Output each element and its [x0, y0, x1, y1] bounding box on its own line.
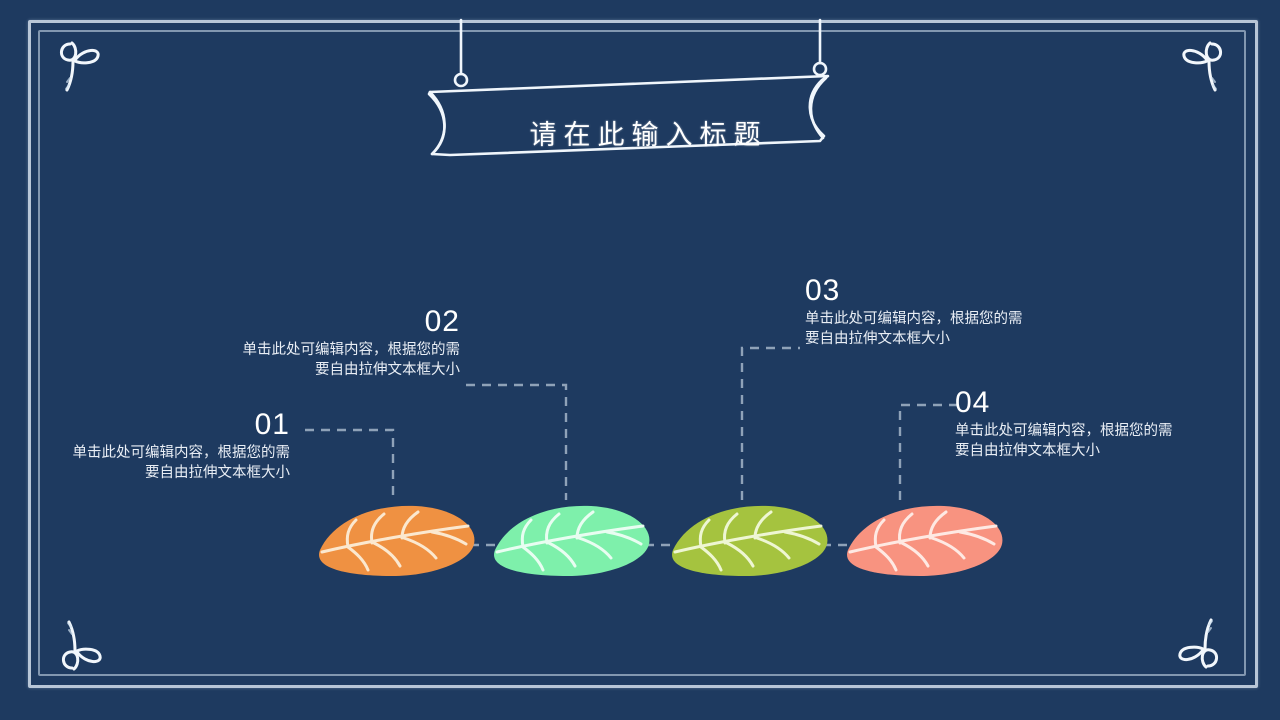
item-number-02: 02: [230, 305, 460, 339]
sprout-icon-top-left: [48, 30, 118, 98]
connector-03: [742, 348, 800, 500]
sprout-icon-bottom-left: [50, 614, 120, 682]
connector-02: [466, 385, 566, 500]
page-title: 请在此输入标题: [420, 113, 870, 152]
hanger-ring-left: [455, 74, 467, 86]
hanger-ring-right: [814, 63, 826, 75]
content-block-01[interactable]: 01 单击此处可编辑内容，根据您的需要自由拉伸文本框大小: [60, 408, 290, 483]
sprout-icon-bottom-right: [1160, 612, 1230, 680]
item-body-03: 单击此处可编辑内容，根据您的需要自由拉伸文本框大小: [805, 309, 1035, 349]
item-number-04: 04: [955, 386, 1185, 420]
slide-canvas: 请在此输入标题: [0, 0, 1280, 720]
title-banner: 请在此输入标题: [420, 18, 870, 163]
item-body-01: 单击此处可编辑内容，根据您的需要自由拉伸文本框大小: [60, 443, 290, 483]
leaf-shape-03[interactable]: [665, 500, 835, 578]
connector-04: [900, 405, 958, 500]
connector-01: [305, 430, 393, 500]
leaf-body: [847, 506, 1002, 576]
leaf-shape-01[interactable]: [312, 500, 482, 578]
item-number-03: 03: [805, 274, 1035, 308]
content-block-04[interactable]: 04 单击此处可编辑内容，根据您的需要自由拉伸文本框大小: [955, 386, 1185, 461]
item-number-01: 01: [60, 408, 290, 442]
item-body-02: 单击此处可编辑内容，根据您的需要自由拉伸文本框大小: [230, 340, 460, 380]
content-block-02[interactable]: 02 单击此处可编辑内容，根据您的需要自由拉伸文本框大小: [230, 305, 460, 380]
leaf-shape-04[interactable]: [840, 500, 1010, 578]
leaf-body: [319, 506, 474, 576]
leaf-body: [672, 506, 827, 576]
leaf-body: [494, 506, 649, 576]
item-body-04: 单击此处可编辑内容，根据您的需要自由拉伸文本框大小: [955, 421, 1185, 461]
leaf-shape-02[interactable]: [487, 500, 657, 578]
sprout-icon-top-right: [1164, 30, 1234, 98]
content-block-03[interactable]: 03 单击此处可编辑内容，根据您的需要自由拉伸文本框大小: [805, 274, 1035, 349]
